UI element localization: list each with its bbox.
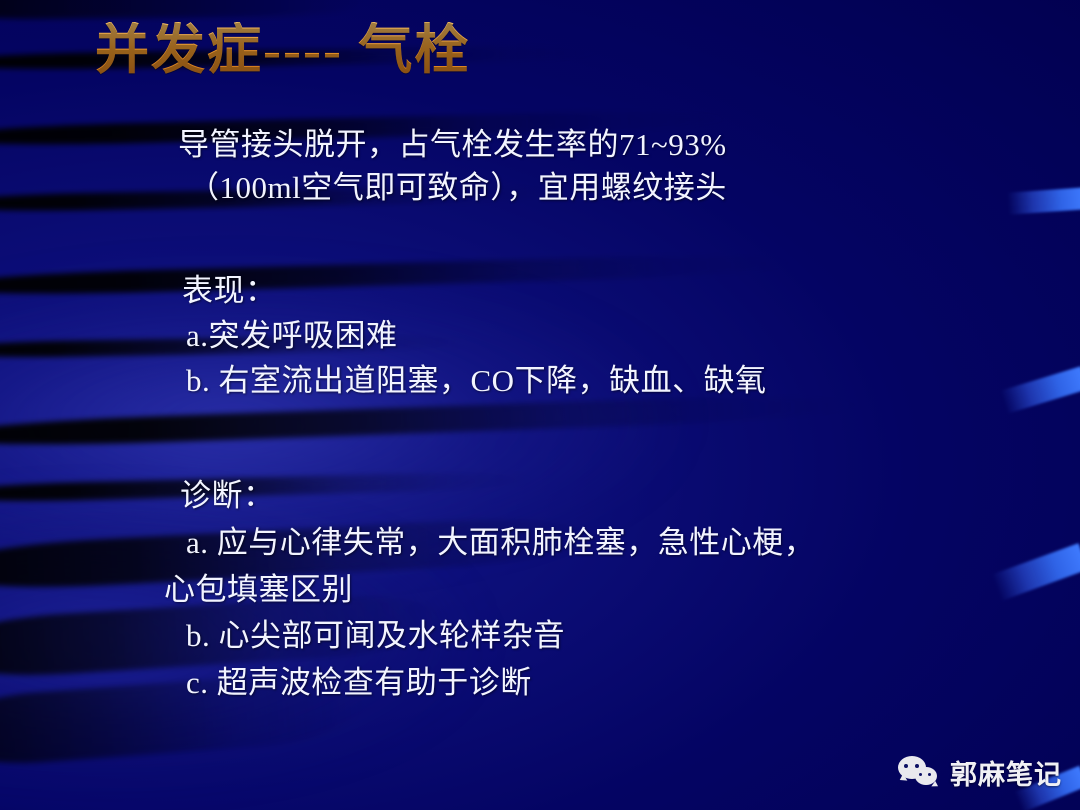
list-item: a. 应与心律失常，大面积肺栓塞，急性心梗， [186, 522, 815, 565]
list-item: b. 右室流出道阻塞，CO下降，缺血、缺氧 [186, 360, 767, 403]
watermark: 郭麻笔记 [898, 753, 1062, 792]
list-item-continuation: 心包填塞区别 [164, 569, 815, 612]
watermark-label: 郭麻笔记 [950, 753, 1062, 792]
intro-line-1: 导管接头脱开，占气栓发生率的71~93% [178, 124, 727, 167]
slide-title: 并发症---- 气栓 [95, 22, 470, 79]
list-item: b. 心尖部可闻及水轮样杂音 [186, 615, 815, 658]
section-diagnosis: 诊断： a. 应与心律失常，大面积肺栓塞，急性心梗， 心包填塞区别 b. 心尖部… [180, 475, 815, 705]
presentation-slide: 并发症---- 气栓 导管接头脱开，占气栓发生率的71~93% （100ml空气… [0, 0, 1080, 810]
list-item: a.突发呼吸困难 [186, 315, 767, 358]
intro-line-2: （100ml空气即可致命），宜用螺纹接头 [188, 167, 727, 210]
wechat-logo-icon [898, 756, 942, 790]
section-heading: 表现： [182, 270, 767, 313]
section-heading: 诊断： [180, 475, 815, 518]
list-item: c. 超声波检查有助于诊断 [186, 662, 815, 705]
section-manifestations: 表现： a.突发呼吸困难 b. 右室流出道阻塞，CO下降，缺血、缺氧 [182, 270, 767, 402]
intro-paragraph: 导管接头脱开，占气栓发生率的71~93% （100ml空气即可致命），宜用螺纹接… [178, 124, 727, 210]
